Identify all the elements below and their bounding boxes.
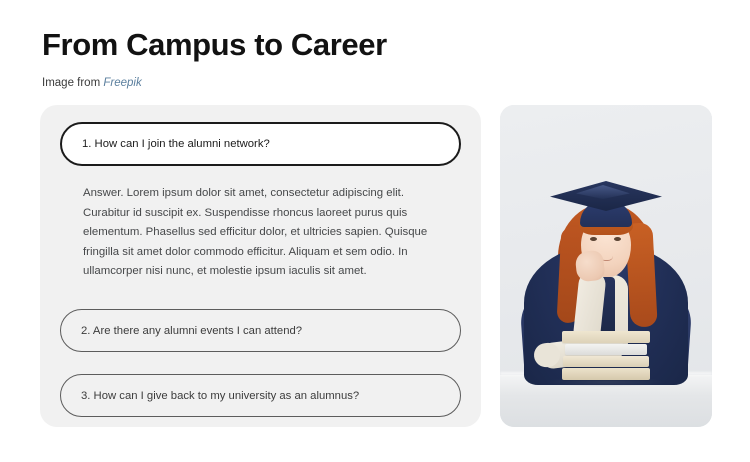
spacer-after-item-2 [60, 352, 461, 374]
page-title: From Campus to Career [42, 28, 682, 62]
book-bottom [562, 368, 650, 380]
faq-answer-1: Answer. Lorem ipsum dolor sit amet, cons… [60, 166, 452, 286]
header: From Campus to Career Image from Freepik [42, 28, 682, 91]
content-area: 1. How can I join the alumni network? An… [40, 105, 712, 427]
freepik-link[interactable]: Freepik [103, 77, 141, 89]
faq-item-1: 1. How can I join the alumni network? An… [60, 122, 461, 286]
book-top [562, 331, 650, 343]
faq-item-2: 2. Are there any alumni events I can att… [60, 309, 461, 352]
photo-backdrop [500, 105, 712, 427]
eye-right [614, 237, 621, 241]
faq-question-3[interactable]: 3. How can I give back to my university … [60, 374, 461, 417]
page-root: From Campus to Career Image from Freepik… [0, 0, 750, 462]
book-second [565, 344, 648, 355]
faq-question-2[interactable]: 2. Are there any alumni events I can att… [60, 309, 461, 352]
book-stack [562, 331, 650, 381]
image-credit: Image from Freepik [42, 77, 682, 91]
spacer-after-item-1 [60, 286, 461, 309]
faq-item-3: 3. How can I give back to my university … [60, 374, 461, 417]
hand-on-chin [575, 250, 606, 283]
eye-left [590, 237, 597, 241]
image-credit-prefix: Image from [42, 77, 103, 89]
faq-question-1[interactable]: 1. How can I join the alumni network? [60, 122, 461, 166]
faq-panel: 1. How can I join the alumni network? An… [40, 105, 481, 427]
graduate-photo [500, 105, 712, 427]
book-third [563, 356, 649, 367]
